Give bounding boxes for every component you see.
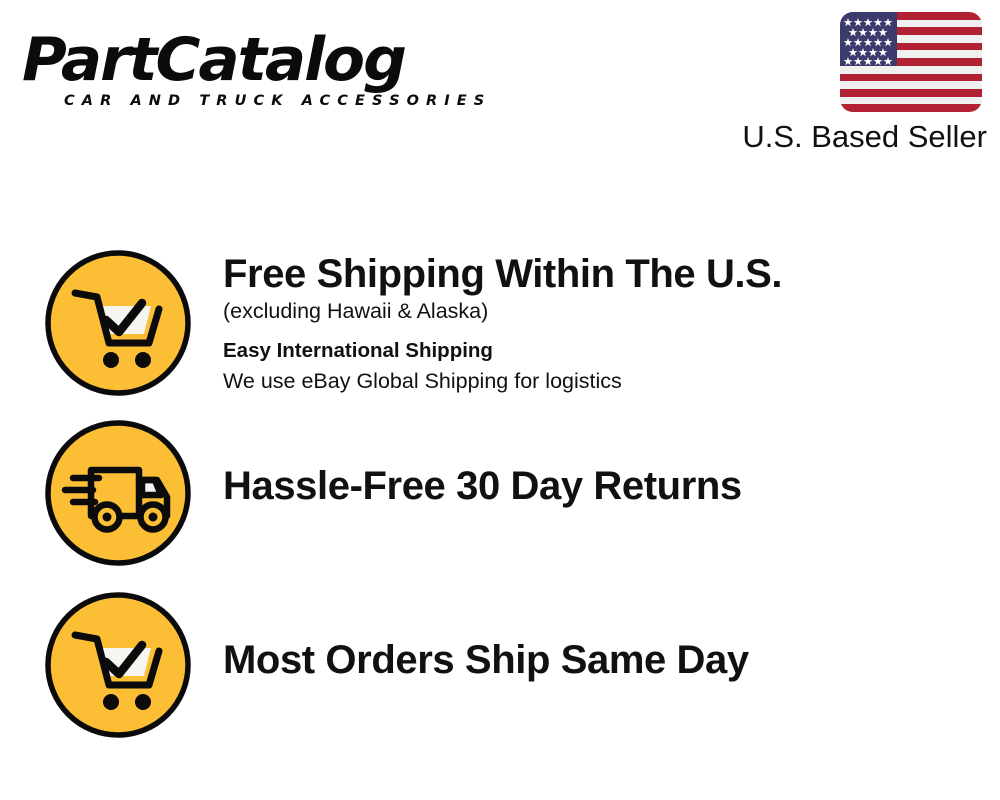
flag-stripe bbox=[840, 66, 982, 74]
brand-logo-tagline: CAR AND TRUCK ACCESSORIES bbox=[64, 93, 491, 109]
flag-stripe bbox=[840, 81, 982, 89]
feature-subtext-logistics: We use eBay Global Shipping for logistic… bbox=[223, 366, 963, 396]
flag-stripe bbox=[840, 104, 982, 112]
spacer bbox=[223, 326, 963, 336]
us-based-seller-label: U.S. Based Seller bbox=[725, 119, 987, 155]
feature-subtext-international: Easy International Shipping bbox=[223, 336, 963, 366]
feature-text: Free Shipping Within The U.S. (excluding… bbox=[223, 252, 963, 396]
brand-logo: PartCatalog CAR AND TRUCK ACCESSORIES bbox=[22, 26, 492, 118]
flag-stripe bbox=[840, 97, 982, 105]
brand-header: PartCatalog CAR AND TRUCK ACCESSORIES bbox=[0, 0, 1000, 170]
flag-canton bbox=[840, 12, 897, 66]
flag-stripe bbox=[840, 89, 982, 97]
feature-text: Hassle-Free 30 Day Returns bbox=[223, 464, 963, 508]
brand-logo-wordmark: PartCatalog bbox=[22, 26, 501, 94]
feature-heading: Free Shipping Within The U.S. bbox=[223, 252, 963, 296]
shopping-cart-check-icon bbox=[43, 248, 193, 398]
flag-stripe bbox=[840, 74, 982, 82]
us-flag-icon bbox=[840, 12, 982, 112]
feature-heading: Hassle-Free 30 Day Returns bbox=[223, 464, 963, 508]
delivery-truck-icon bbox=[43, 418, 193, 568]
feature-subtext-exclusion: (excluding Hawaii & Alaska) bbox=[223, 296, 963, 326]
shopping-cart-check-icon bbox=[43, 590, 193, 740]
feature-heading: Most Orders Ship Same Day bbox=[223, 638, 963, 682]
feature-text: Most Orders Ship Same Day bbox=[223, 638, 963, 682]
